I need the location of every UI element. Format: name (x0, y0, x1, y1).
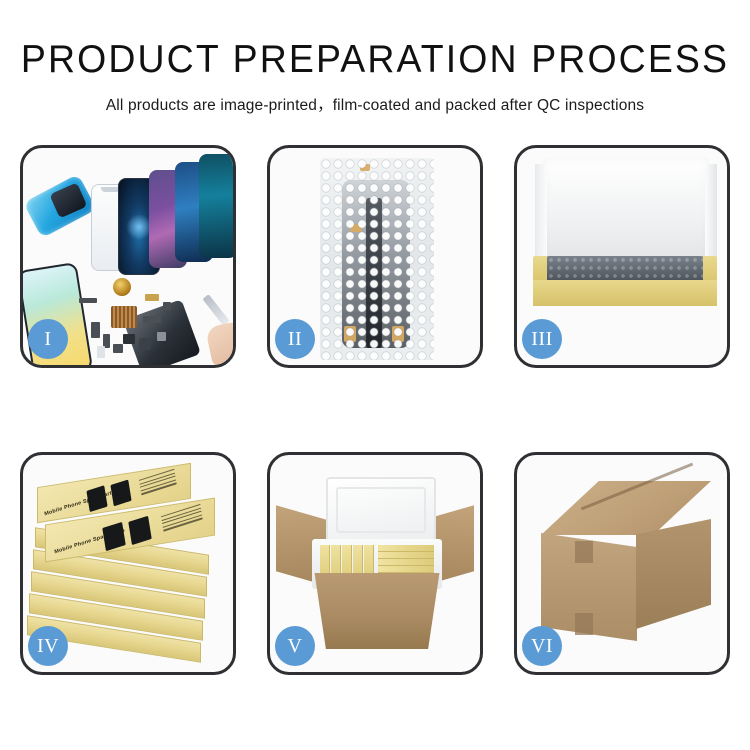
yellow-box (378, 559, 434, 566)
spare-parts-cluster (79, 276, 189, 365)
step-card-4: Mobile Phone Spare Parts Mobile Phone Sp… (20, 452, 236, 675)
page-title: PRODUCT PREPARATION PROCESS (15, 40, 735, 79)
screen-print-icon (86, 485, 107, 512)
screen-print-icon (102, 522, 126, 551)
step-badge-3: III (522, 319, 562, 359)
part-icon (157, 332, 166, 341)
part-icon (139, 338, 151, 350)
step-card-2: II (267, 145, 483, 368)
part-icon (113, 344, 123, 353)
part-icon (145, 294, 159, 301)
tape-icon (575, 613, 593, 635)
screen-film-icon (23, 174, 97, 238)
part-icon (97, 346, 105, 358)
copper-coil-icon (113, 278, 131, 296)
part-icon (143, 316, 161, 323)
step-card-3: III (514, 145, 730, 368)
phone-display-teal-icon (199, 154, 233, 258)
step-badge-4: IV (28, 626, 68, 666)
repair-tweezers-icon (202, 294, 229, 326)
carton-body (306, 573, 448, 649)
step-badge-5: V (275, 626, 315, 666)
part-icon (163, 302, 171, 310)
bubble-texture (320, 158, 434, 360)
step-badge-2: II (275, 319, 315, 359)
infographic-page: PRODUCT PREPARATION PROCESS All products… (0, 0, 750, 750)
step-card-5: V (267, 452, 483, 675)
step-card-1: I (20, 145, 236, 368)
carton-side-face (636, 519, 711, 629)
yellow-box (378, 552, 434, 559)
page-subtitle: All products are image-printed，film-coat… (0, 93, 750, 115)
screen-print-icon (128, 516, 152, 545)
box-spec-lines (139, 469, 177, 497)
step-badge-1: I (28, 319, 68, 359)
hand-icon (205, 321, 233, 365)
screen-print-icon (110, 479, 131, 506)
bubble-wrap-bag (320, 158, 434, 360)
chip-icon (111, 306, 137, 328)
part-icon (79, 298, 97, 303)
header: PRODUCT PREPARATION PROCESS All products… (0, 0, 750, 115)
yellow-box (378, 566, 434, 573)
process-step-grid: I II (20, 145, 730, 675)
tray-front-panel (533, 280, 717, 306)
foam-lid-icon (326, 477, 436, 543)
yellow-box (378, 545, 434, 552)
step-card-6: VI (514, 452, 730, 675)
part-icon (91, 322, 100, 338)
tape-icon (575, 541, 593, 563)
bubble-wrapped-contents (547, 256, 703, 282)
box-spec-lines (161, 504, 203, 534)
foam-lid-icon (543, 158, 709, 264)
step-badge-6: VI (522, 626, 562, 666)
part-icon (123, 334, 135, 344)
